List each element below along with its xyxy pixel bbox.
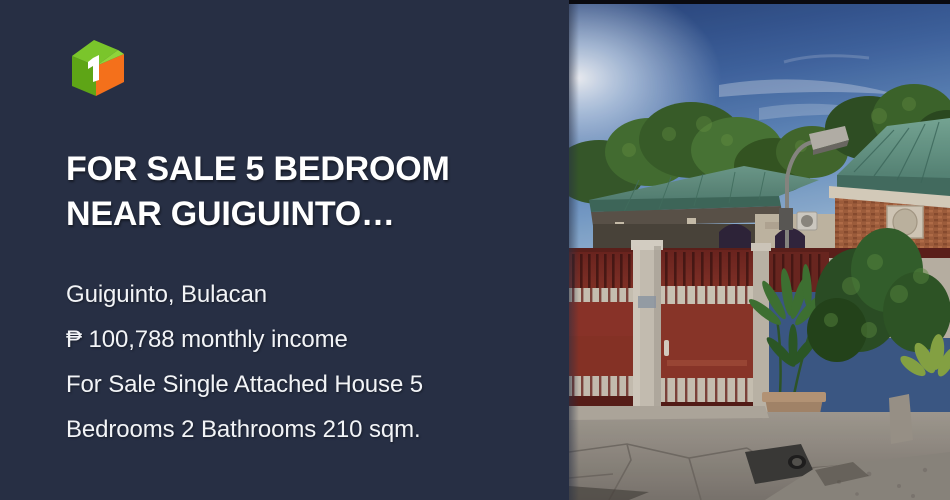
photo-letterbox-bar	[569, 0, 950, 4]
page-title: FOR SALE 5 BEDROOM NEAR GUIGUINTO…	[66, 147, 536, 237]
property-photo-illustration	[569, 0, 950, 500]
info-panel: FOR SALE 5 BEDROOM NEAR GUIGUINTO… Guigu…	[0, 0, 569, 500]
photo-left-seam	[569, 0, 579, 500]
listing-price: ₱ 100,788 monthly income	[66, 317, 546, 362]
listing-location: Guiguinto, Bulacan	[66, 272, 546, 317]
listing-description: For Sale Single Attached House 5 Bedroom…	[66, 362, 546, 452]
listing-details: Guiguinto, Bulacan ₱ 100,788 monthly inc…	[66, 272, 546, 452]
property-photo	[569, 0, 950, 500]
property-listing-card: FOR SALE 5 BEDROOM NEAR GUIGUINTO… Guigu…	[0, 0, 950, 500]
house-logo-icon	[66, 36, 130, 100]
